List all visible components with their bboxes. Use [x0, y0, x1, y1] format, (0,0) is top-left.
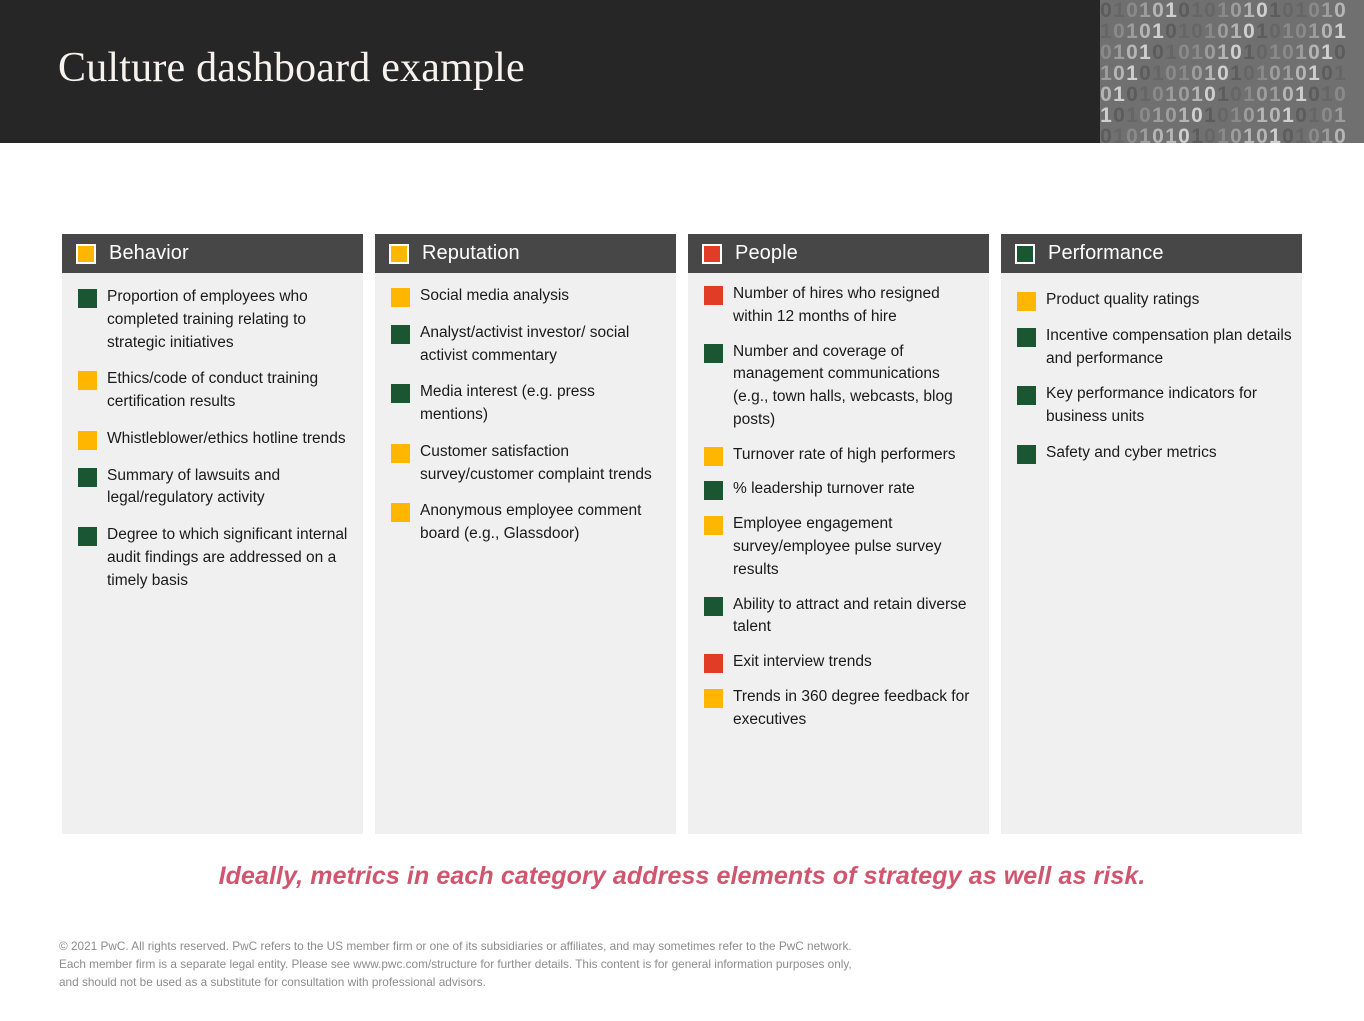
binary-pattern-row: 0101010101010101010 — [1100, 0, 1364, 21]
metric-item[interactable]: Ability to attract and retain diverse ta… — [704, 594, 979, 640]
metric-label: Anonymous employee comment board (e.g., … — [420, 500, 666, 546]
square-swatch-icon — [704, 481, 723, 500]
metric-label: Number and coverage of management commun… — [733, 341, 979, 432]
square-swatch-icon — [704, 597, 723, 616]
footer-line: Each member firm is a separate legal ent… — [59, 956, 969, 974]
metric-label: Customer satisfaction survey/customer co… — [420, 441, 666, 487]
square-swatch-icon — [704, 516, 723, 535]
card-title-reputation: Reputation — [422, 242, 520, 265]
square-swatch-icon — [78, 527, 97, 546]
footer-line: and should not be used as a substitute f… — [59, 974, 969, 992]
metric-label: Safety and cyber metrics — [1046, 442, 1217, 465]
metric-label: Analyst/activist investor/ social activi… — [420, 322, 666, 368]
square-swatch-icon — [1017, 445, 1036, 464]
metric-item[interactable]: Employee engagement survey/employee puls… — [704, 513, 979, 581]
square-swatch-icon — [78, 289, 97, 308]
square-swatch-icon — [391, 444, 410, 463]
square-swatch-icon — [704, 344, 723, 363]
card-title-performance: Performance — [1048, 242, 1164, 265]
binary-pattern-row: 0101010101010101010 — [1100, 42, 1364, 63]
metric-item[interactable]: Social media analysis — [391, 285, 666, 308]
dashboard-card-people: PeopleNumber of hires who resigned withi… — [688, 234, 989, 834]
square-swatch-icon — [702, 244, 722, 264]
card-header-reputation[interactable]: Reputation — [375, 234, 676, 273]
summary-caption: Ideally, metrics in each category addres… — [0, 862, 1364, 891]
square-swatch-icon — [391, 384, 410, 403]
square-swatch-icon — [389, 244, 409, 264]
card-body-people: Number of hires who resigned within 12 m… — [688, 273, 989, 834]
metric-item[interactable]: Anonymous employee comment board (e.g., … — [391, 500, 666, 546]
square-swatch-icon — [1017, 386, 1036, 405]
dashboard-card-reputation: ReputationSocial media analysisAnalyst/a… — [375, 234, 676, 834]
card-body-behavior: Proportion of employees who completed tr… — [62, 273, 363, 834]
metric-label: Turnover rate of high performers — [733, 444, 956, 467]
metric-item[interactable]: Exit interview trends — [704, 651, 979, 674]
square-swatch-icon — [1017, 328, 1036, 347]
metric-label: Degree to which significant internal aud… — [107, 524, 353, 592]
metric-label: % leadership turnover rate — [733, 478, 915, 501]
metric-label: Social media analysis — [420, 285, 569, 308]
dashboard-card-performance: PerformanceProduct quality ratingsIncent… — [1001, 234, 1302, 834]
metric-label: Employee engagement survey/employee puls… — [733, 513, 979, 581]
binary-pattern-row: 1010101010101010101 — [1100, 105, 1364, 126]
square-swatch-icon — [391, 503, 410, 522]
square-swatch-icon — [78, 468, 97, 487]
metric-label: Key performance indicators for business … — [1046, 383, 1292, 429]
square-swatch-icon — [391, 288, 410, 307]
square-swatch-icon — [1017, 292, 1036, 311]
dashboard-columns: BehaviorProportion of employees who comp… — [62, 234, 1302, 834]
metric-label: Product quality ratings — [1046, 289, 1199, 312]
metric-item[interactable]: Product quality ratings — [1017, 289, 1292, 312]
square-swatch-icon — [704, 689, 723, 708]
square-swatch-icon — [391, 325, 410, 344]
metric-item[interactable]: Analyst/activist investor/ social activi… — [391, 322, 666, 368]
metric-item[interactable]: Media interest (e.g. press mentions) — [391, 381, 666, 427]
metric-item[interactable]: Incentive compensation plan details and … — [1017, 325, 1292, 371]
card-title-people: People — [735, 242, 798, 265]
square-swatch-icon — [76, 244, 96, 264]
metric-item[interactable]: Degree to which significant internal aud… — [78, 524, 353, 592]
binary-pattern-decoration: 0101010101010101010101010101010101010101… — [1100, 0, 1364, 143]
page-title: Culture dashboard example — [58, 44, 525, 92]
metric-item[interactable]: Whistleblower/ethics hotline trends — [78, 428, 353, 451]
card-header-performance[interactable]: Performance — [1001, 234, 1302, 273]
metric-item[interactable]: Key performance indicators for business … — [1017, 383, 1292, 429]
metric-item[interactable]: Summary of lawsuits and legal/regulatory… — [78, 465, 353, 511]
metric-item[interactable]: Number of hires who resigned within 12 m… — [704, 283, 979, 329]
metric-label: Media interest (e.g. press mentions) — [420, 381, 666, 427]
card-body-reputation: Social media analysisAnalyst/activist in… — [375, 273, 676, 834]
metric-label: Summary of lawsuits and legal/regulatory… — [107, 465, 353, 511]
dashboard-card-behavior: BehaviorProportion of employees who comp… — [62, 234, 363, 834]
card-title-behavior: Behavior — [109, 242, 189, 265]
title-band: Culture dashboard example 01010101010101… — [0, 0, 1364, 143]
metric-item[interactable]: Ethics/code of conduct training certific… — [78, 368, 353, 414]
metric-item[interactable]: Customer satisfaction survey/customer co… — [391, 441, 666, 487]
metric-item[interactable]: Number and coverage of management commun… — [704, 341, 979, 432]
metric-label: Incentive compensation plan details and … — [1046, 325, 1292, 371]
footer-line: © 2021 PwC. All rights reserved. PwC ref… — [59, 938, 969, 956]
binary-pattern-row: 1010101010101010101 — [1100, 21, 1364, 42]
metric-label: Number of hires who resigned within 12 m… — [733, 283, 979, 329]
copyright-footer: © 2021 PwC. All rights reserved. PwC ref… — [59, 938, 969, 992]
metric-label: Whistleblower/ethics hotline trends — [107, 428, 346, 451]
binary-pattern-row: 0101010101010101010 — [1100, 84, 1364, 105]
binary-pattern-row: 1010101010101010101 — [1100, 63, 1364, 84]
square-swatch-icon — [1015, 244, 1035, 264]
square-swatch-icon — [78, 431, 97, 450]
card-header-behavior[interactable]: Behavior — [62, 234, 363, 273]
card-body-performance: Product quality ratingsIncentive compens… — [1001, 273, 1302, 834]
metric-label: Trends in 360 degree feedback for execut… — [733, 686, 979, 732]
metric-label: Ability to attract and retain diverse ta… — [733, 594, 979, 640]
metric-item[interactable]: % leadership turnover rate — [704, 478, 979, 501]
metric-item[interactable]: Proportion of employees who completed tr… — [78, 286, 353, 354]
binary-pattern-row: 0101010101010101010 — [1100, 126, 1364, 143]
metric-label: Proportion of employees who completed tr… — [107, 286, 353, 354]
card-header-people[interactable]: People — [688, 234, 989, 273]
metric-item[interactable]: Trends in 360 degree feedback for execut… — [704, 686, 979, 732]
square-swatch-icon — [704, 654, 723, 673]
metric-label: Exit interview trends — [733, 651, 872, 674]
square-swatch-icon — [78, 371, 97, 390]
metric-item[interactable]: Safety and cyber metrics — [1017, 442, 1292, 465]
square-swatch-icon — [704, 447, 723, 466]
square-swatch-icon — [704, 286, 723, 305]
metric-item[interactable]: Turnover rate of high performers — [704, 444, 979, 467]
metric-label: Ethics/code of conduct training certific… — [107, 368, 353, 414]
